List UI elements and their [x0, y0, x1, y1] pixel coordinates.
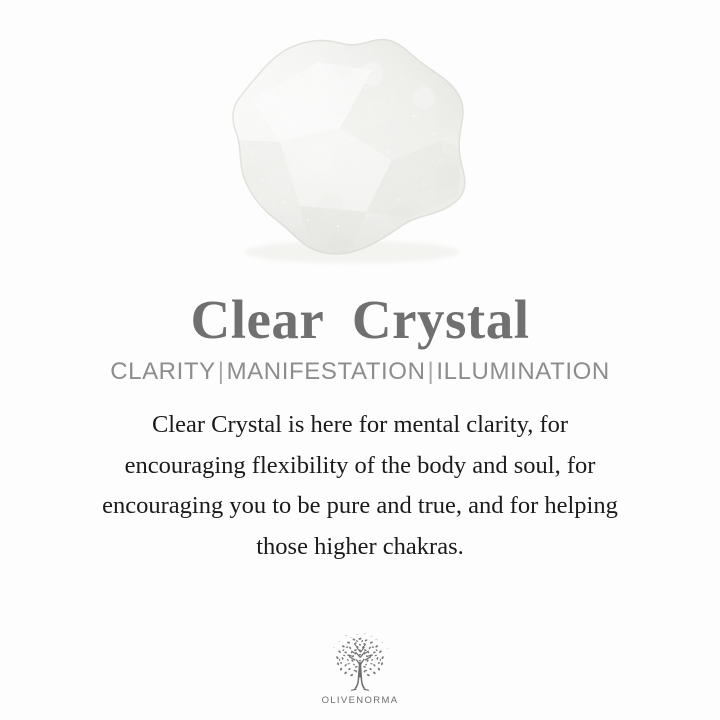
- raw-clear-quartz-crystal-image: [0, 0, 720, 288]
- description-line: encouraging flexibility of the body and …: [40, 446, 680, 487]
- brand-wordmark: OLIVENORMA: [322, 695, 399, 706]
- keyword-manifestation: MANIFESTATION: [227, 360, 426, 384]
- crystal-image-container: [0, 0, 720, 288]
- keyword-separator-2: |: [426, 360, 437, 384]
- product-keywords: CLARITY | MANIFESTATION | ILLUMINATION: [110, 350, 610, 394]
- product-description: Clear Crystal is here for mental clarity…: [40, 405, 680, 567]
- olive-tree-icon: [322, 632, 398, 694]
- product-info-card: Clear Crystal CLARITY | MANIFESTATION | …: [0, 0, 720, 720]
- brand-logo: OLIVENORMA: [0, 632, 720, 706]
- description-line: encouraging you to be pure and true, and…: [40, 486, 680, 527]
- description-line: Clear Crystal is here for mental clarity…: [40, 405, 680, 446]
- crystal-body: [200, 20, 520, 280]
- keyword-clarity: CLARITY: [110, 360, 216, 384]
- product-title: Clear Crystal: [191, 288, 530, 350]
- keyword-illumination: ILLUMINATION: [436, 360, 609, 384]
- description-line: those higher chakras.: [40, 527, 680, 568]
- keyword-separator-1: |: [216, 360, 227, 384]
